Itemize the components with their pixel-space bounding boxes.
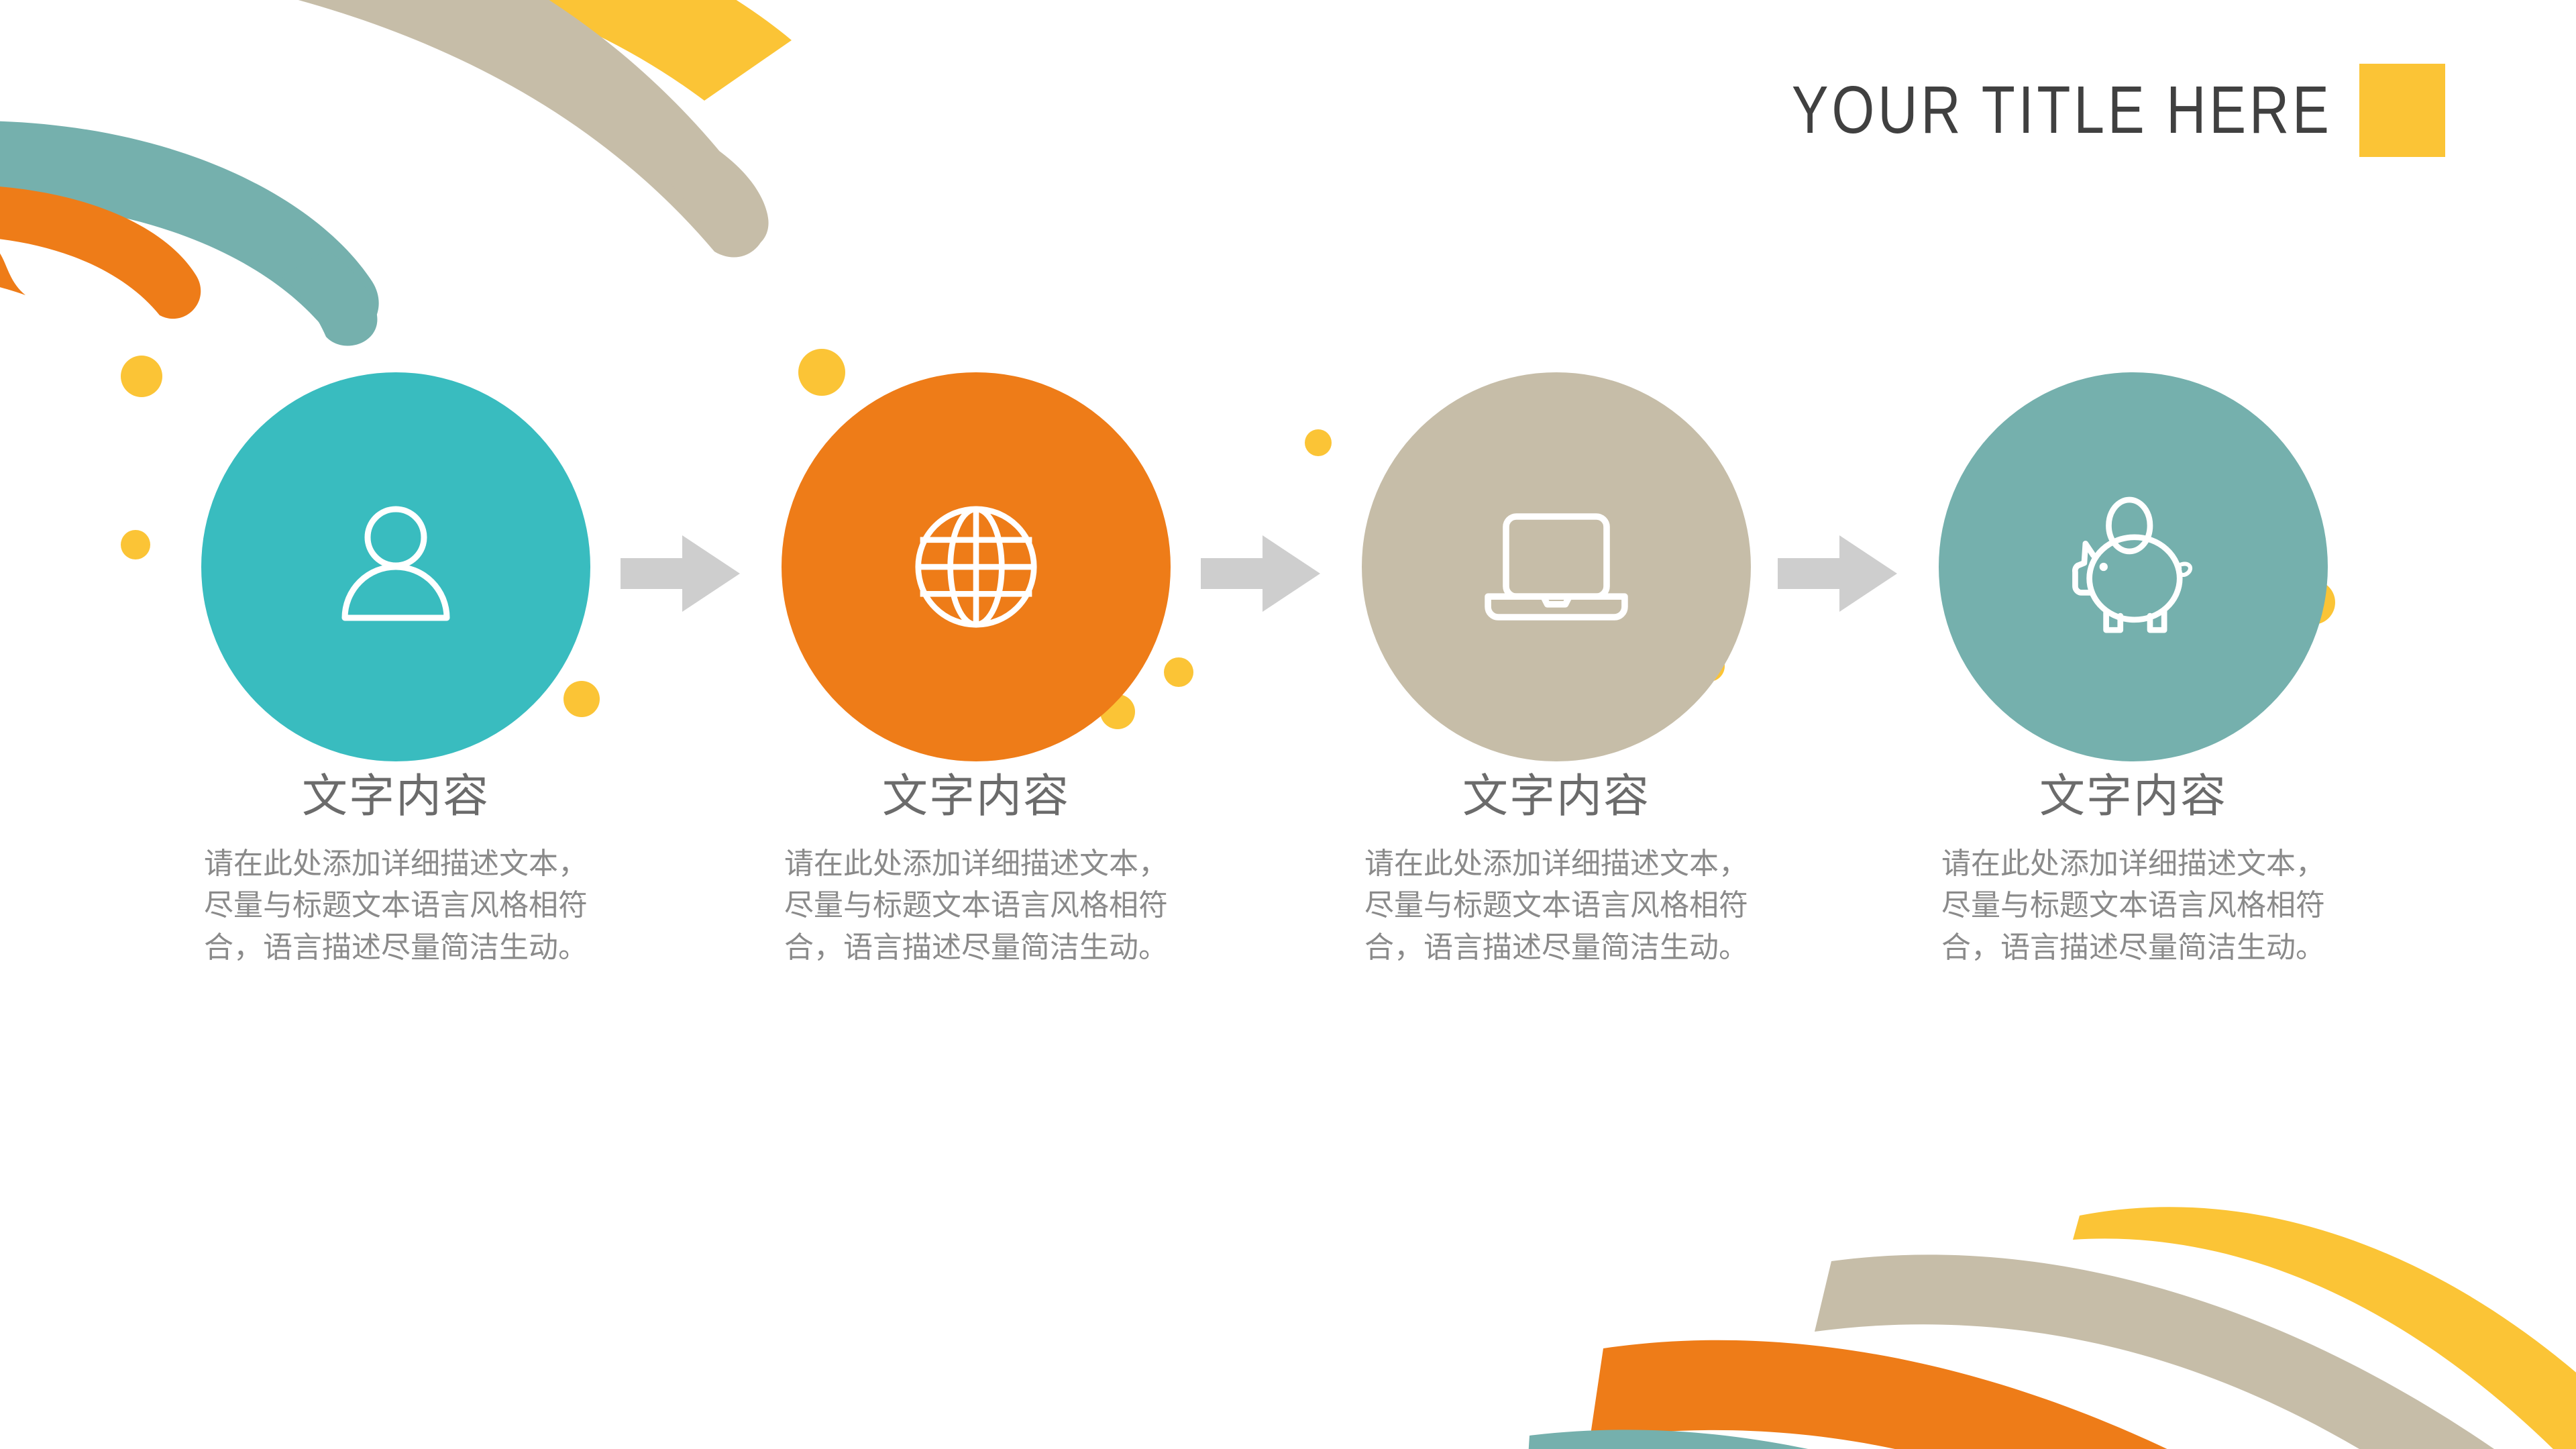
decor-dot — [798, 349, 845, 396]
swoosh-orange-top-left — [0, 184, 201, 319]
caption-body-1: 请在此处添加详细描述文本，尽量与标题文本语言风格相符合，语言描述尽量简洁生动。 — [195, 843, 597, 969]
page-title: YOUR TITLE HERE — [1792, 72, 2332, 149]
flow-arrow-1 — [621, 530, 741, 617]
title-accent-square — [2359, 64, 2445, 157]
slide-header: YOUR TITLE HERE — [1673, 64, 2445, 157]
slide-canvas: YOUR TITLE HERE — [0, 0, 2576, 1449]
caption-body-4: 请在此处添加详细描述文本，尽量与标题文本语言风格相符合，语言描述尽量简洁生动。 — [1932, 843, 2334, 969]
swoosh-beige-bottom-right — [1815, 1254, 2576, 1449]
caption-body-3: 请在此处添加详细描述文本，尽量与标题文本语言风格相符合，语言描述尽量简洁生动。 — [1355, 843, 1758, 969]
caption-title-3: 文字内容 — [1355, 771, 1758, 822]
process-flow-row — [0, 362, 2576, 778]
step-circle-1[interactable] — [201, 372, 590, 761]
piggy-bank-icon — [2049, 483, 2217, 651]
swoosh-yellow-top-left — [429, 0, 792, 101]
swoosh-teal-bottom-right — [1523, 1430, 2341, 1449]
step-circle-2[interactable] — [782, 372, 1171, 761]
step-circle-4[interactable] — [1939, 372, 2328, 761]
caption-block-3: 文字内容 请在此处添加详细描述文本，尽量与标题文本语言风格相符合，语言描述尽量简… — [1355, 771, 1758, 969]
laptop-icon — [1472, 483, 1640, 651]
globe-icon — [899, 490, 1053, 644]
flow-arrow-3 — [1778, 530, 1898, 617]
swoosh-teal-top-left — [0, 121, 379, 337]
caption-title-4: 文字内容 — [1932, 771, 2334, 822]
swoosh-orange-top-left-tail — [0, 236, 25, 295]
caption-block-2: 文字内容 请在此处添加详细描述文本，尽量与标题文本语言风格相符合，语言描述尽量简… — [775, 771, 1177, 969]
decor-dot — [1164, 657, 1193, 687]
caption-title-2: 文字内容 — [775, 771, 1177, 822]
caption-block-1: 文字内容 请在此处添加详细描述文本，尽量与标题文本语言风格相符合，语言描述尽量简… — [195, 771, 597, 969]
swoosh-orange-bottom-right — [1590, 1340, 2516, 1449]
user-icon — [315, 486, 476, 647]
decor-dot — [121, 356, 162, 397]
caption-title-1: 文字内容 — [195, 771, 597, 822]
decor-dot — [121, 530, 150, 559]
swoosh-yellow-bottom-right — [2073, 1207, 2576, 1449]
caption-block-4: 文字内容 请在此处添加详细描述文本，尽量与标题文本语言风格相符合，语言描述尽量简… — [1932, 771, 2334, 969]
decor-dot — [563, 681, 600, 717]
swoosh-teal-top-left-cap — [282, 250, 377, 345]
swoosh-beige-top-left — [215, 0, 766, 258]
flow-arrow-2 — [1201, 530, 1322, 617]
caption-body-2: 请在此处添加详细描述文本，尽量与标题文本语言风格相符合，语言描述尽量简洁生动。 — [775, 843, 1177, 969]
decor-dot — [1305, 429, 1332, 456]
step-circle-3[interactable] — [1362, 372, 1751, 761]
swoosh-beige-top-left-cap — [661, 146, 769, 252]
